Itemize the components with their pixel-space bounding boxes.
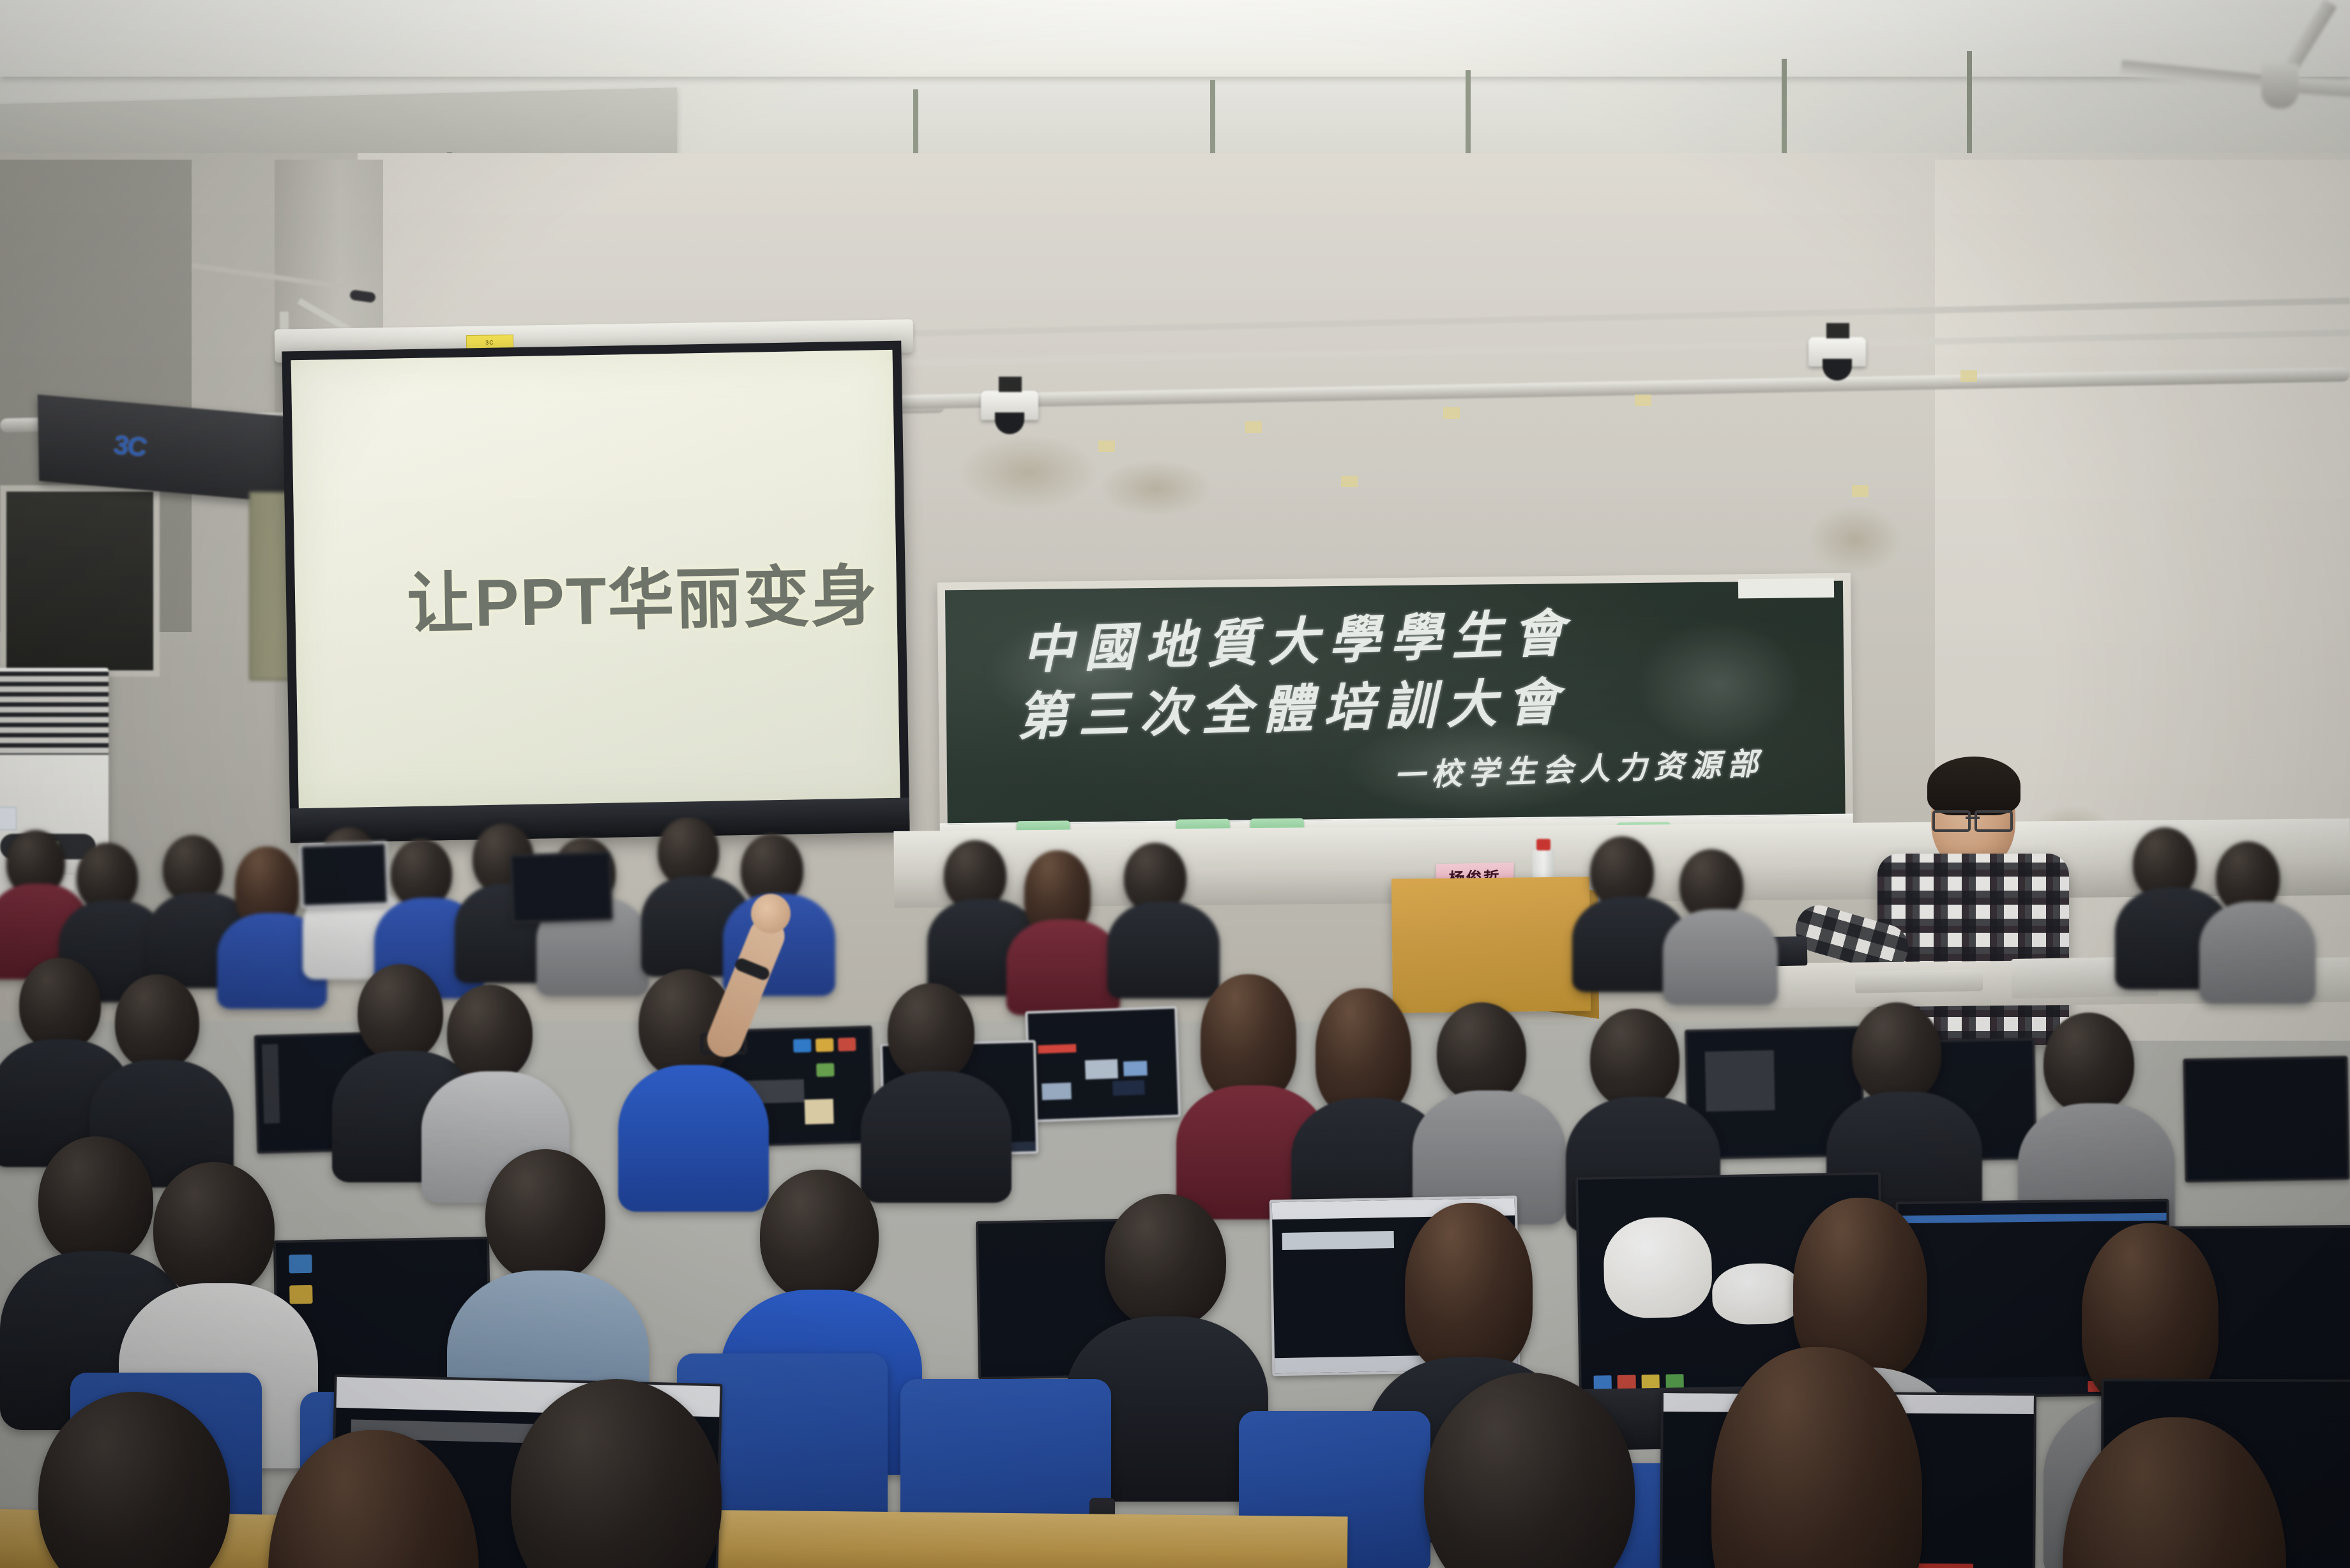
ceiling-soffit [0, 0, 2350, 77]
student-head [485, 1149, 605, 1282]
raised-hand [751, 894, 791, 933]
laptop-screen[interactable] [2183, 1056, 2349, 1182]
student-head [1590, 1009, 1679, 1108]
wall-tape [1443, 407, 1460, 419]
student-head [447, 984, 533, 1082]
laptop-screen[interactable] [1025, 1006, 1181, 1122]
aircon-grille [0, 672, 109, 755]
blackboard-line-2: 第三次全體培訓大會 [1015, 661, 1569, 750]
student-body [861, 1071, 1012, 1203]
laptop-screen[interactable] [510, 851, 613, 923]
blackboard: 中國地質大學學生會 第三次全體培訓大會 一校学生会人力资源部 [945, 581, 1846, 826]
student-head [115, 974, 199, 1070]
student-desk [671, 1509, 1348, 1568]
student-body [618, 1065, 769, 1212]
student-body [2199, 901, 2316, 1004]
student-head [1852, 1002, 1941, 1103]
student-head [1437, 1002, 1526, 1102]
wall-tape [1852, 485, 1869, 497]
student-head [760, 1170, 879, 1301]
student-head [2043, 1013, 2134, 1113]
student-body [1107, 901, 1220, 999]
wall-tape [1341, 476, 1358, 487]
wall-tape [1960, 370, 1977, 382]
student-body [1663, 909, 1778, 1005]
student-head [38, 1136, 153, 1264]
laptop-screen[interactable] [299, 841, 389, 908]
laptop[interactable] [299, 841, 384, 903]
wall-stain [958, 434, 1098, 511]
laptop[interactable] [510, 851, 607, 918]
student-body [1006, 919, 1120, 1015]
polar-bear-graphic [1711, 1263, 1803, 1325]
student-head [1105, 1194, 1226, 1328]
blackboard-frame: 中國地質大學學生會 第三次全體培訓大會 一校学生会人力资源部 [937, 573, 1853, 854]
polar-bear-graphic [1603, 1217, 1713, 1318]
blackboard-paper-patch [1738, 578, 1834, 599]
wall-tape [1245, 421, 1262, 433]
wall-stain [1807, 504, 1903, 575]
laptop[interactable] [2183, 1056, 2344, 1177]
student-head [358, 964, 443, 1061]
security-camera-icon [1808, 337, 1866, 366]
student-head [153, 1162, 275, 1296]
ceiling-fan [2101, 38, 2350, 115]
laptop[interactable] [1025, 1006, 1176, 1117]
presenter-hair [1927, 757, 2020, 815]
student-seating-area [0, 817, 2350, 1568]
projection-screen: 让PPT华丽变身 [282, 341, 909, 843]
wall-tape [1098, 441, 1115, 452]
classroom-scene: 3C 3C 让PPT华丽变身 中國地質大學學生會 第三次全體培訓大會 一校学生会… [0, 0, 2350, 1568]
left-window [0, 485, 160, 677]
student-head [888, 983, 974, 1082]
student-head [1201, 974, 1296, 1102]
security-camera-icon [981, 391, 1038, 420]
wall-tape [1635, 395, 1651, 406]
speaker-logo: 3C [114, 429, 146, 462]
presentation-slide: 让PPT华丽变身 [291, 350, 900, 810]
student-head [1405, 1203, 1533, 1374]
wall-stain [1098, 460, 1213, 517]
student-head [19, 958, 101, 1051]
student-head [1315, 988, 1411, 1116]
slide-title: 让PPT华丽变身 [406, 541, 879, 646]
